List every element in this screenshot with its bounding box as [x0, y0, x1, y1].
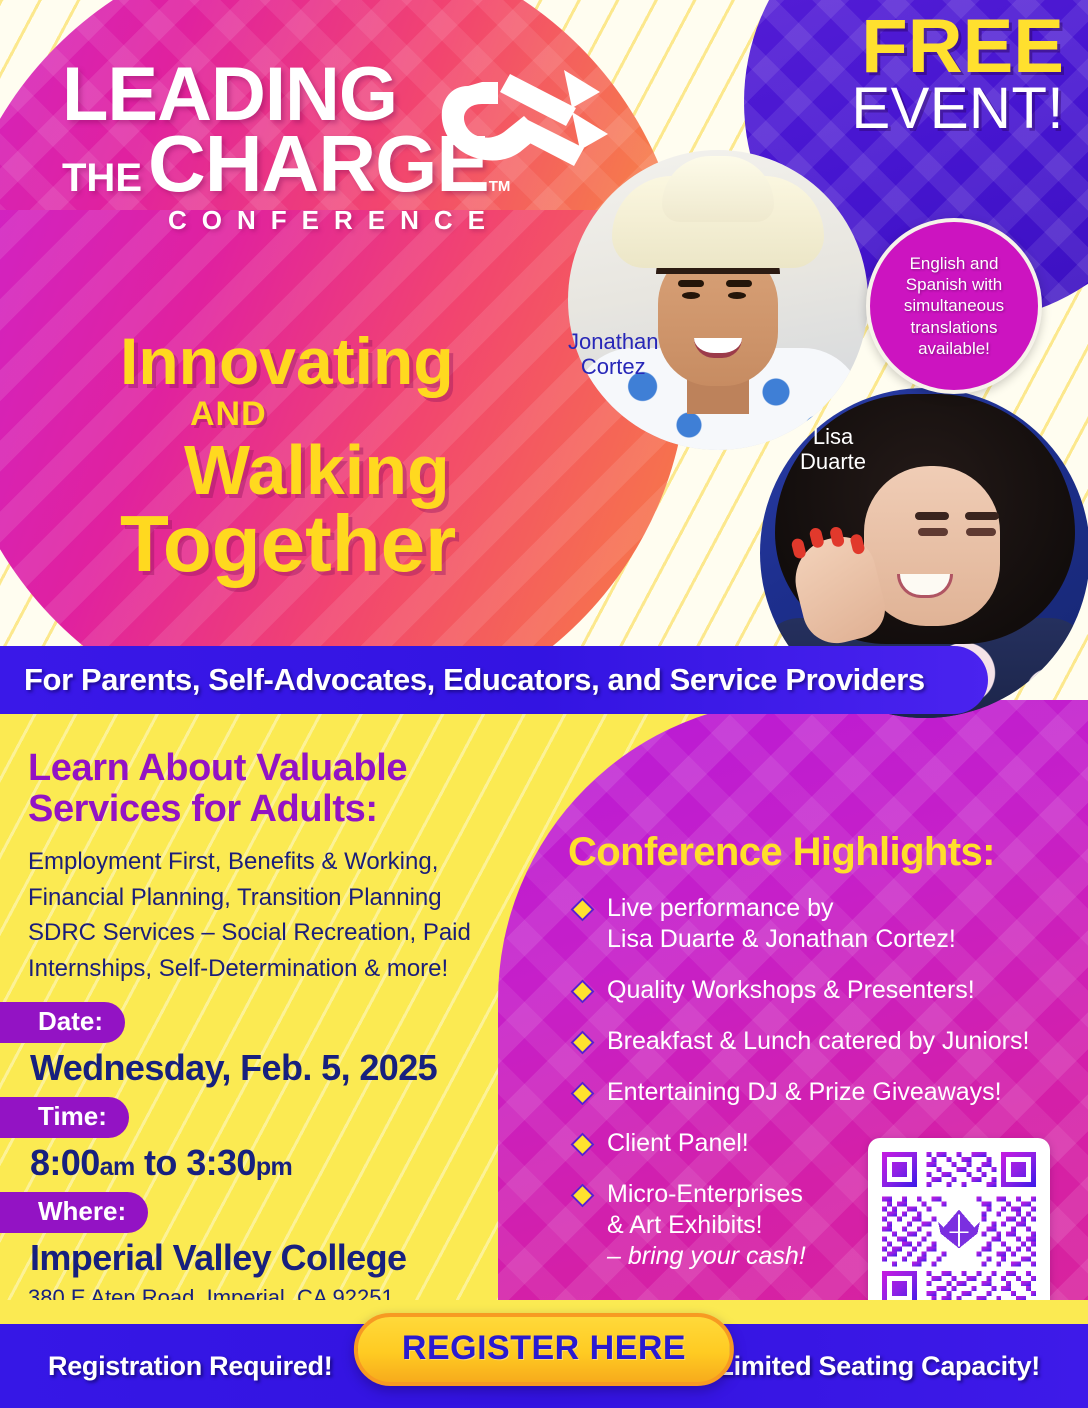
time-end-meridiem: pm	[256, 1153, 292, 1181]
services-heading-line1: Learn About Valuable	[28, 748, 528, 789]
highlight-line: Breakfast & Lunch catered by Juniors!	[607, 1026, 1029, 1057]
charge-arrow-icon	[424, 56, 614, 211]
highlight-text: Live performance by Lisa Duarte & Jonath…	[607, 893, 956, 955]
services-line: Internships, Self-Determination & more!	[28, 951, 528, 987]
speaker-name-lisa-duarte: Lisa Duarte	[800, 425, 866, 474]
date-value: Wednesday, Feb. 5, 2025	[30, 1047, 508, 1089]
headline-and: AND	[190, 395, 456, 434]
diamond-bullet-icon	[570, 897, 594, 921]
diamond-bullet-icon	[570, 1183, 594, 1207]
highlight-text: Entertaining DJ & Prize Giveaways!	[607, 1077, 1002, 1108]
audience-banner: For Parents, Self-Advocates, Educators, …	[0, 646, 988, 714]
origami-crane-icon	[937, 1207, 982, 1252]
lisa-brow-left	[915, 512, 949, 520]
event-details-section: Date: Wednesday, Feb. 5, 2025 Time: 8:00…	[28, 1002, 508, 1311]
headline-walking: Walking	[184, 436, 456, 505]
time-separator: to	[144, 1142, 177, 1183]
jonathan-first-name: Jonathan	[568, 330, 659, 355]
lisa-last-name: Duarte	[800, 450, 866, 475]
main-headline: Innovating AND Walking Together	[120, 330, 456, 583]
translation-text: English and Spanish with simultaneous tr…	[870, 253, 1038, 359]
registration-required-text: Registration Required!	[48, 1351, 332, 1382]
highlight-text: Micro-Enterprises & Art Exhibits! – brin…	[607, 1179, 806, 1272]
cowboy-hat-crown	[662, 156, 774, 222]
lisa-brow-right	[965, 512, 999, 520]
highlight-line: Lisa Duarte & Jonathan Cortez!	[607, 924, 956, 955]
headline-together: Together	[120, 505, 456, 583]
free-label: FREE	[852, 12, 1065, 82]
translation-availability-badge: English and Spanish with simultaneous tr…	[866, 218, 1042, 394]
jonathan-eye-right	[728, 292, 746, 299]
venue-name: Imperial Valley College	[30, 1237, 508, 1279]
speaker-name-jonathan-cortez: Jonathan Cortez	[568, 330, 659, 379]
register-here-button[interactable]: REGISTER HERE	[354, 1313, 734, 1386]
highlight-text: Breakfast & Lunch catered by Juniors!	[607, 1026, 1029, 1057]
highlight-text: Quality Workshops & Presenters!	[607, 975, 975, 1006]
services-section: Learn About Valuable Services for Adults…	[28, 748, 528, 986]
time-end: 3:30	[186, 1142, 256, 1183]
highlight-item: Entertaining DJ & Prize Giveaways!	[568, 1077, 1068, 1108]
event-flyer: FREE EVENT! LEADING THE CHARGE TM CONFER…	[0, 0, 1088, 1408]
free-event-badge: FREE EVENT!	[852, 12, 1065, 135]
highlight-line: Live performance by	[607, 893, 956, 924]
limited-seating-text: Limited Seating Capacity!	[717, 1351, 1040, 1382]
highlight-text: Client Panel!	[607, 1128, 749, 1159]
time-start: 8:00	[30, 1142, 100, 1183]
headline-innovating: Innovating	[120, 330, 456, 393]
lisa-eye-right	[966, 528, 996, 536]
logo-the: THE	[62, 161, 142, 196]
highlight-line: Micro-Enterprises	[607, 1179, 806, 1210]
register-button-label: REGISTER HERE	[402, 1329, 686, 1367]
time-value: 8:00am to 3:30pm	[30, 1142, 508, 1184]
jonathan-brow-right	[726, 280, 752, 287]
diamond-bullet-icon	[570, 1132, 594, 1156]
services-heading: Learn About Valuable Services for Adults…	[28, 748, 528, 830]
highlights-heading: Conference Highlights:	[568, 830, 1068, 875]
highlight-line: Client Panel!	[607, 1128, 749, 1159]
services-heading-line2: Services for Adults:	[28, 789, 528, 830]
lisa-eye-left	[918, 528, 948, 536]
services-line: SDRC Services – Social Recreation, Paid	[28, 915, 528, 951]
diamond-bullet-icon	[570, 1030, 594, 1054]
highlight-item: Breakfast & Lunch catered by Juniors!	[568, 1026, 1068, 1057]
highlight-line-italic: – bring your cash!	[607, 1241, 806, 1272]
jonathan-brow-left	[678, 280, 704, 287]
conference-logo: LEADING THE CHARGE TM CONFERENCE	[62, 62, 582, 236]
highlight-line: Entertaining DJ & Prize Giveaways!	[607, 1077, 1002, 1108]
diamond-bullet-icon	[570, 1081, 594, 1105]
audience-banner-text: For Parents, Self-Advocates, Educators, …	[24, 662, 925, 698]
date-label: Date:	[0, 1002, 125, 1043]
services-line: Financial Planning, Transition Planning	[28, 880, 528, 916]
time-label: Time:	[0, 1097, 129, 1138]
highlight-line: & Art Exhibits!	[607, 1210, 806, 1241]
registration-qr-code[interactable]	[868, 1138, 1050, 1320]
highlight-item: Live performance by Lisa Duarte & Jonath…	[568, 893, 1068, 955]
highlight-line: Quality Workshops & Presenters!	[607, 975, 975, 1006]
diamond-bullet-icon	[570, 979, 594, 1003]
jonathan-last-name: Cortez	[568, 355, 659, 380]
lisa-first-name: Lisa	[800, 425, 866, 450]
services-line: Employment First, Benefits & Working,	[28, 844, 528, 880]
event-label: EVENT!	[852, 82, 1065, 135]
jonathan-eye-left	[682, 292, 700, 299]
time-start-meridiem: am	[100, 1153, 135, 1181]
highlight-item: Quality Workshops & Presenters!	[568, 975, 1068, 1006]
qr-code-image	[877, 1147, 1041, 1311]
where-label: Where:	[0, 1192, 148, 1233]
services-list: Employment First, Benefits & Working, Fi…	[28, 844, 528, 986]
